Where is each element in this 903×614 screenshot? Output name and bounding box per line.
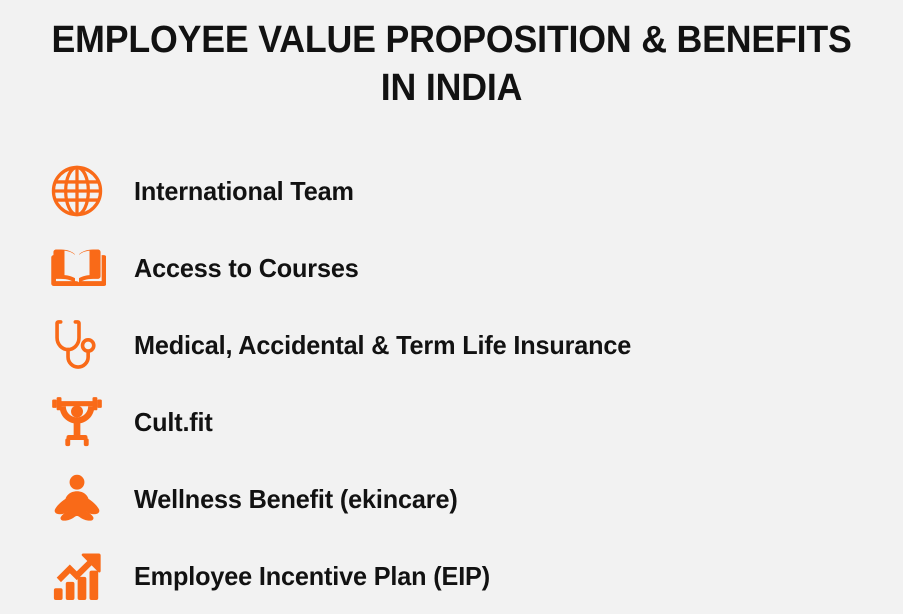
benefit-label: Cult.fit (134, 407, 213, 437)
benefit-item-access-to-courses: Access to Courses (0, 229, 903, 306)
benefit-label: Employee Incentive Plan (EIP) (134, 561, 490, 591)
weightlifter-icon (46, 391, 108, 453)
benefit-label: Medical, Accidental & Term Life Insuranc… (134, 330, 631, 360)
benefits-list: International Team Access to Courses (0, 152, 903, 614)
page-title: EMPLOYEE VALUE PROPOSITION & BENEFITS IN… (0, 16, 903, 112)
benefit-label: Wellness Benefit (ekincare) (134, 484, 458, 514)
stethoscope-icon (46, 314, 108, 376)
benefit-item-insurance: Medical, Accidental & Term Life Insuranc… (0, 306, 903, 383)
page-title-line-1: EMPLOYEE VALUE PROPOSITION & BENEFITS (52, 16, 852, 64)
benefit-item-wellness: Wellness Benefit (ekincare) (0, 460, 903, 537)
growth-chart-icon (46, 545, 108, 607)
slide-canvas: EMPLOYEE VALUE PROPOSITION & BENEFITS IN… (0, 0, 903, 607)
page-title-line-2: IN INDIA (52, 64, 852, 112)
benefit-label: Access to Courses (134, 253, 359, 283)
globe-icon (46, 160, 108, 222)
open-book-icon (46, 237, 108, 299)
benefit-item-international-team: International Team (0, 152, 903, 229)
benefit-label: International Team (134, 176, 354, 206)
meditation-icon (46, 468, 108, 530)
benefit-item-eip: Employee Incentive Plan (EIP) (0, 537, 903, 614)
benefit-item-cultfit: Cult.fit (0, 383, 903, 460)
